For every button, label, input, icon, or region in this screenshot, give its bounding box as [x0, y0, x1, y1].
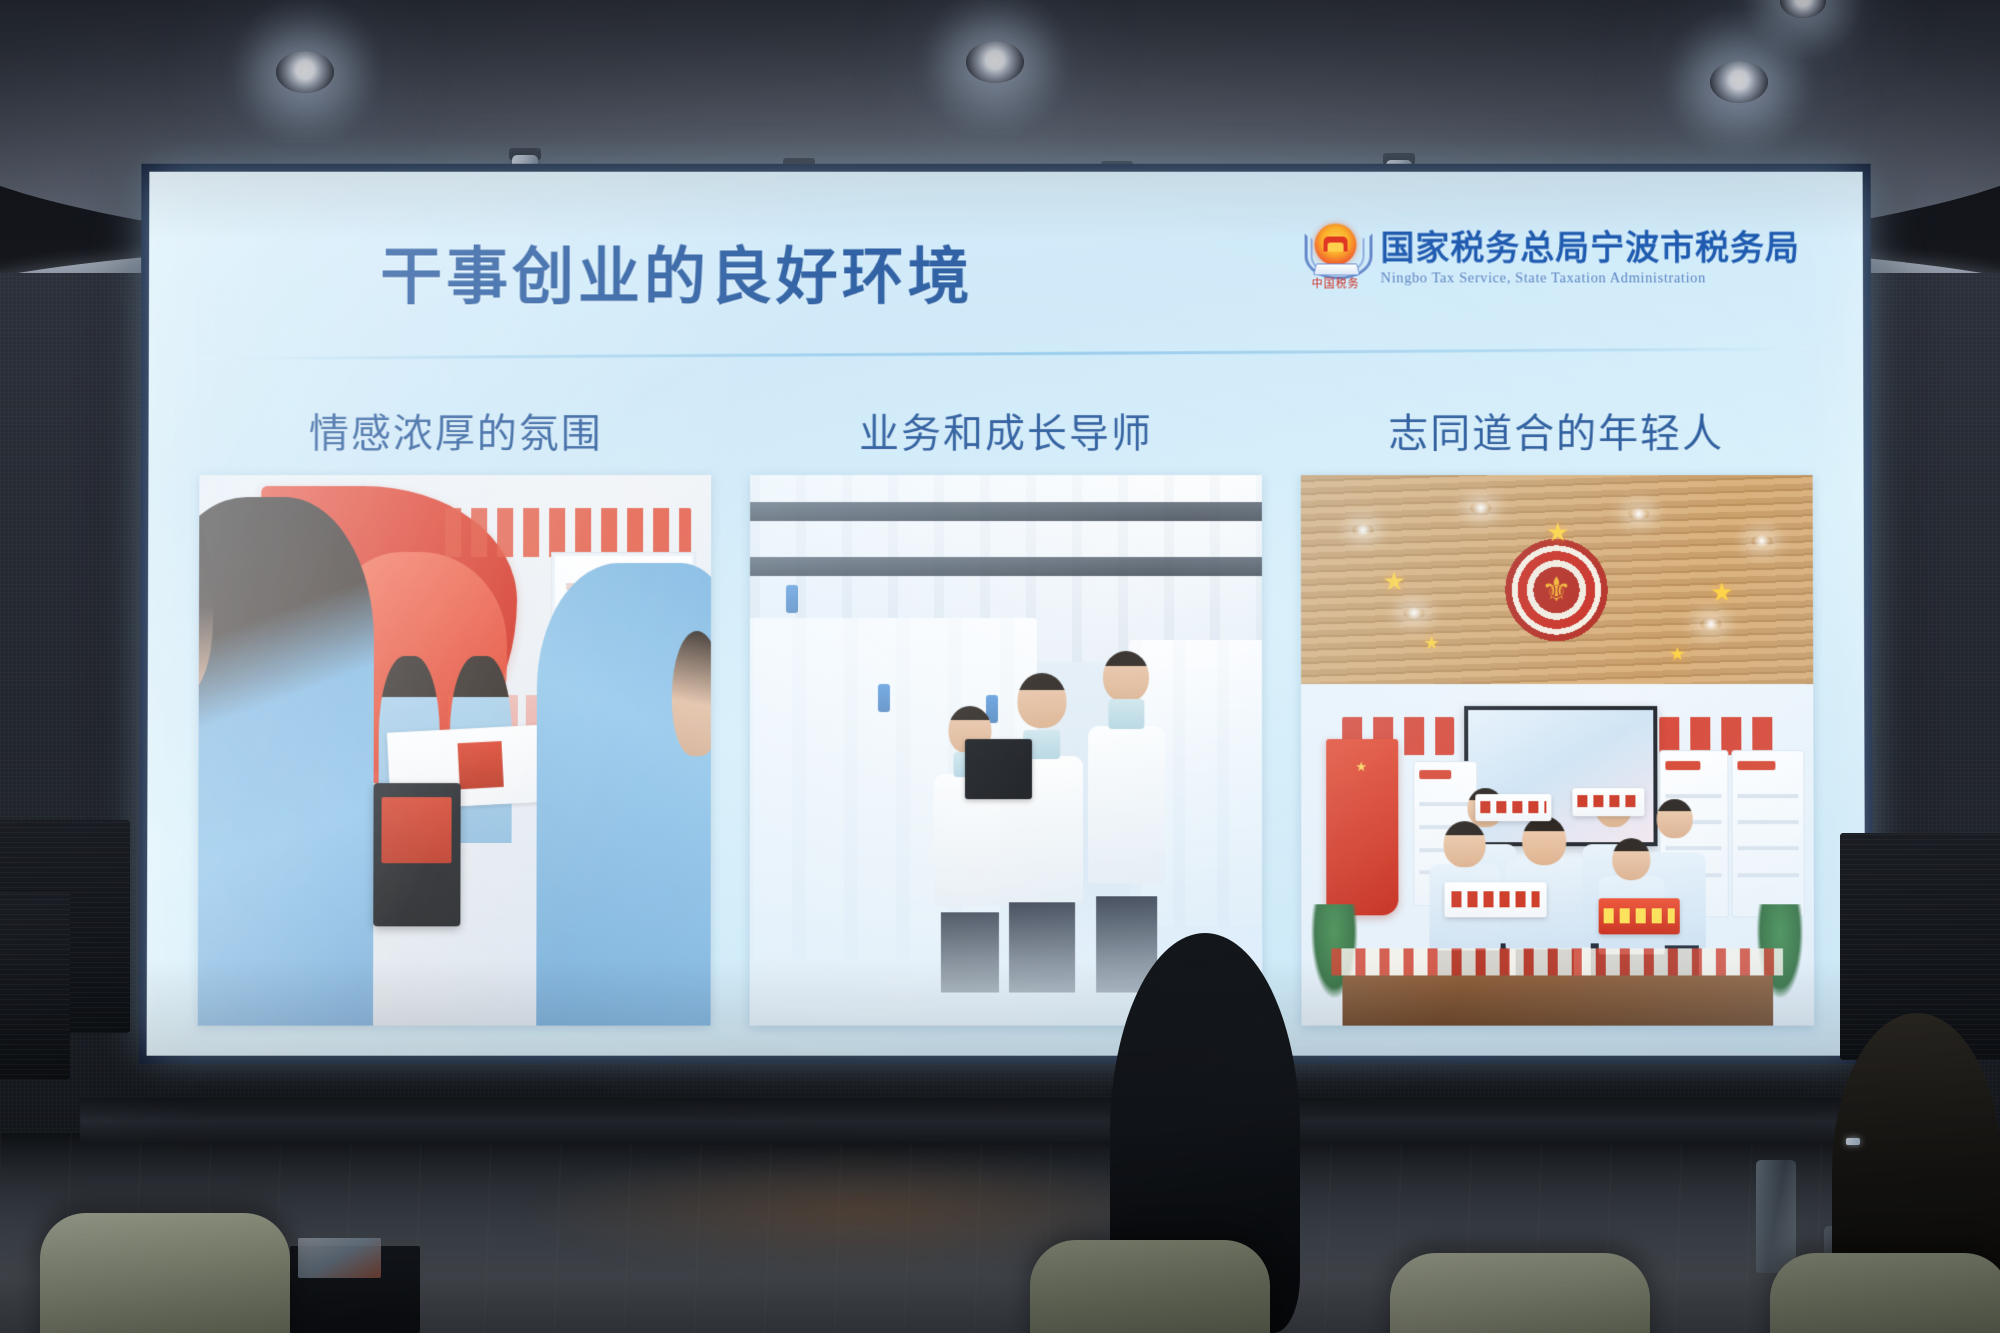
- ceiling-downlight: [1710, 61, 1768, 103]
- ceiling-downlight: [276, 51, 334, 93]
- presentation-slide: 干事创业的良好环境 中国税务 国家税务总局宁波市税务局 Ning: [147, 171, 1866, 1055]
- party-emblem-icon: ⚜: [1495, 535, 1618, 645]
- slogan-sign: [1572, 788, 1644, 816]
- china-taxation-emblem-icon: 中国税务: [1305, 219, 1367, 289]
- screenshot-root: 干事创业的良好环境 中国税务 国家税务总局宁波市税务局 Ning: [0, 0, 2000, 1333]
- floor-warm-reflection: [520, 1153, 1200, 1273]
- card-caption: 业务和成长导师: [750, 401, 1262, 475]
- slogan-sign: [1444, 882, 1547, 918]
- party-banner: ★: [1326, 738, 1398, 914]
- content-card: 志同道合的年轻人 ⚜ ★ ★ ★ ★ ★: [1300, 401, 1813, 1025]
- projection-screen[interactable]: 干事创业的良好环境 中国税务 国家税务总局宁波市税务局 Ning: [147, 171, 1866, 1055]
- photo-party-study-tablet: ⚜: [198, 474, 711, 1024]
- slide-content-row: 情感浓厚的氛围 ⚜: [198, 401, 1814, 1025]
- stage-edge: [80, 1098, 1920, 1143]
- photo-factory-site-visit: [750, 474, 1263, 1024]
- slogan-sign: [1475, 793, 1552, 821]
- photo-young-team-party-room: ⚜ ★ ★ ★ ★ ★: [1301, 474, 1814, 1024]
- organization-branding: 中国税务 国家税务总局宁波市税务局 Ningbo Tax Service, St…: [1305, 219, 1800, 289]
- projection-screen-frame: 干事创业的良好环境 中国税务 国家税务总局宁波市税务局 Ning: [139, 163, 1874, 1063]
- emblem-caption: 中国税务: [1309, 275, 1363, 291]
- slide-title: 干事创业的良好环境: [380, 226, 973, 316]
- content-card: 情感浓厚的氛围 ⚜: [198, 401, 711, 1025]
- card-caption: 志同道合的年轻人: [1300, 401, 1812, 475]
- ceiling-downlight: [966, 41, 1024, 83]
- ceiling-downlight: [1780, 0, 1826, 18]
- slogan-sign: [1598, 898, 1680, 934]
- organization-name-cn: 国家税务总局宁波市税务局: [1381, 221, 1801, 270]
- content-card: 业务和成长导师: [750, 401, 1263, 1025]
- organization-name-en: Ningbo Tax Service, State Taxation Admin…: [1381, 270, 1801, 287]
- card-caption: 情感浓厚的氛围: [200, 401, 712, 475]
